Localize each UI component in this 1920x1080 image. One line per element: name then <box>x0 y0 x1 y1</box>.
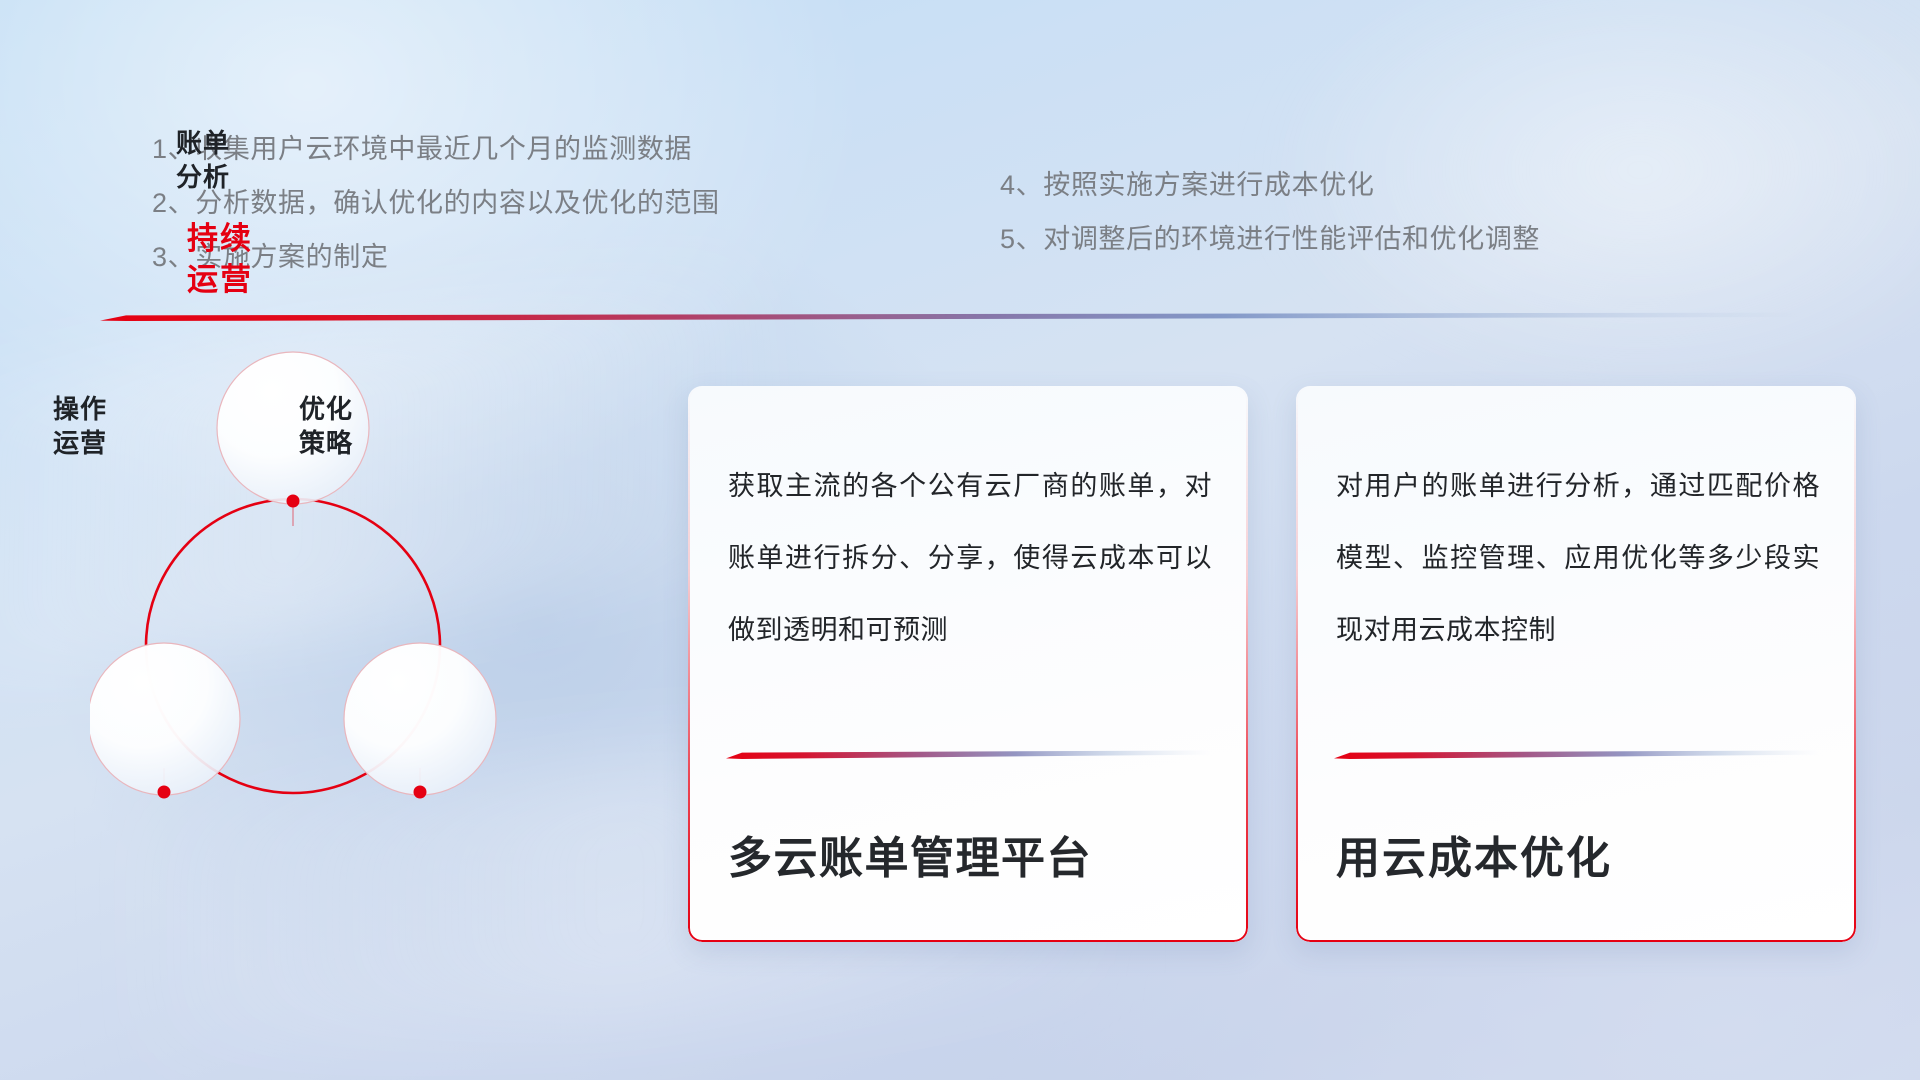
step-item-3: 3、实施方案的制定 <box>152 230 720 284</box>
cycle-diagram <box>90 348 680 968</box>
card-accent-rule <box>1334 750 1818 759</box>
card-body-text: 对用户的账单进行分析，通过匹配价格模型、监控管理、应用优化等多少段实现对用云成本… <box>1336 450 1820 666</box>
node-bubble-bill-analysis <box>217 352 369 504</box>
step-item-5: 5、对调整后的环境进行性能评估和优化调整 <box>1000 212 1540 266</box>
feature-card-multi-cloud-billing-platform[interactable]: 获取主流的各个公有云厂商的账单，对账单进行拆分、分享，使得云成本可以做到透明和可… <box>688 386 1248 942</box>
step-item-4: 4、按照实施方案进行成本优化 <box>1000 158 1540 212</box>
node-dot-top <box>287 495 300 508</box>
feature-card-cloud-cost-optimization[interactable]: 对用户的账单进行分析，通过匹配价格模型、监控管理、应用优化等多少段实现对用云成本… <box>1296 386 1856 942</box>
slide-canvas: 1、收集用户云环境中最近几个月的监测数据 2、分析数据，确认优化的内容以及优化的… <box>0 0 1920 1080</box>
node-bubble-ops-operation <box>90 643 240 795</box>
steps-left-column: 1、收集用户云环境中最近几个月的监测数据 2、分析数据，确认优化的内容以及优化的… <box>152 122 720 284</box>
steps-right-column: 4、按照实施方案进行成本优化 5、对调整后的环境进行性能评估和优化调整 <box>1000 158 1540 266</box>
card-title: 用云成本优化 <box>1336 830 1826 888</box>
card-body-text: 获取主流的各个公有云厂商的账单，对账单进行拆分、分享，使得云成本可以做到透明和可… <box>728 450 1212 666</box>
step-item-1: 1、收集用户云环境中最近几个月的监测数据 <box>152 122 720 176</box>
step-item-2: 2、分析数据，确认优化的内容以及优化的范围 <box>152 176 720 230</box>
node-dot-right <box>414 786 427 799</box>
section-divider-line <box>100 312 1800 321</box>
card-title: 多云账单管理平台 <box>728 830 1218 888</box>
card-accent-rule <box>726 750 1210 759</box>
node-dot-left <box>158 786 171 799</box>
node-bubble-optimize-policy <box>344 643 496 795</box>
